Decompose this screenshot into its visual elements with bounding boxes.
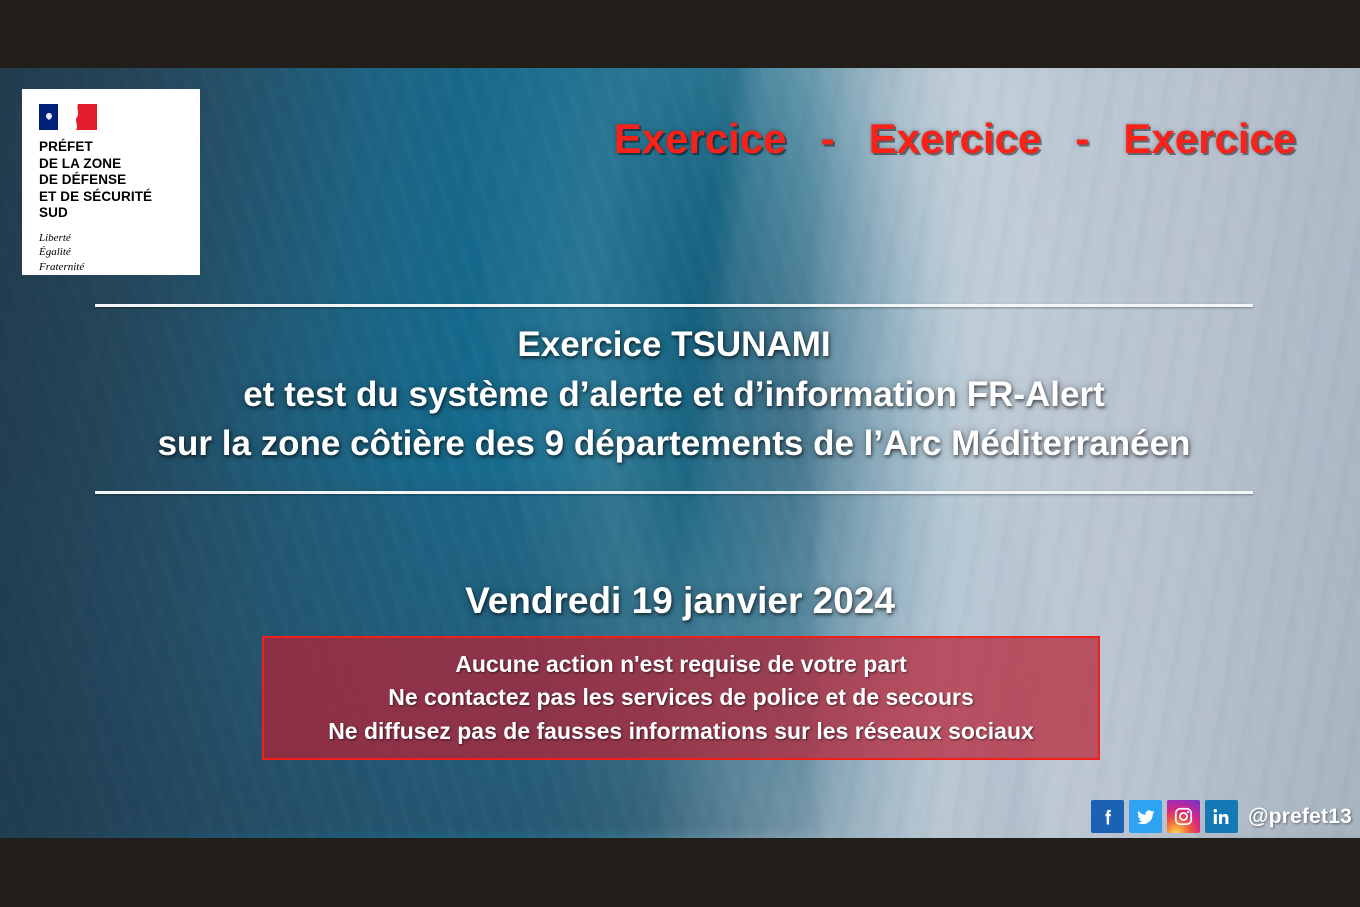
warning-line-3: Ne diffusez pas de fausses informations … [328,715,1034,748]
facebook-icon[interactable] [1091,800,1124,833]
letterbox-top [0,0,1360,68]
warning-line-2: Ne contactez pas les services de police … [388,681,974,714]
exercise-banner: Exercice - Exercice - Exercice [560,118,1350,160]
social-media-bar: @prefet13 [1091,800,1352,833]
title-divider-bottom [95,491,1253,494]
exercise-separator-1: - [787,118,869,160]
prefecture-logo: PRÉFET DE LA ZONE DE DÉFENSE ET DE SÉCUR… [22,89,200,275]
exercise-word-1: Exercice [614,118,787,160]
social-handle[interactable]: @prefet13 [1248,805,1352,829]
logo-title-text: PRÉFET DE LA ZONE DE DÉFENSE ET DE SÉCUR… [39,139,200,222]
event-date: Vendredi 19 janvier 2024 [0,580,1360,622]
warning-box: Aucune action n'est requise de votre par… [262,636,1100,760]
poster-title: Exercice TSUNAMI et test du système d’al… [95,320,1253,469]
exercise-separator-2: - [1041,118,1123,160]
page-title-line-1: Exercice TSUNAMI [95,320,1253,370]
letterbox-bottom [0,838,1360,907]
exercise-word-2: Exercice [869,118,1042,160]
page-title-line-3: sur la zone côtière des 9 départements d… [95,419,1253,469]
french-tricolour-flag-icon [39,104,97,130]
exercise-word-3: Exercice [1123,118,1296,160]
warning-line-1: Aucune action n'est requise de votre par… [455,648,907,681]
logo-motto-text: Liberté Égalité Fraternité [39,231,200,275]
title-divider-top [95,304,1253,307]
page-title-line-2: et test du système d’alerte et d’informa… [95,370,1253,420]
poster-frame: PRÉFET DE LA ZONE DE DÉFENSE ET DE SÉCUR… [0,0,1360,907]
linkedin-icon[interactable] [1205,800,1238,833]
twitter-icon[interactable] [1129,800,1162,833]
poster-stage: PRÉFET DE LA ZONE DE DÉFENSE ET DE SÉCUR… [0,68,1360,838]
instagram-icon[interactable] [1167,800,1200,833]
